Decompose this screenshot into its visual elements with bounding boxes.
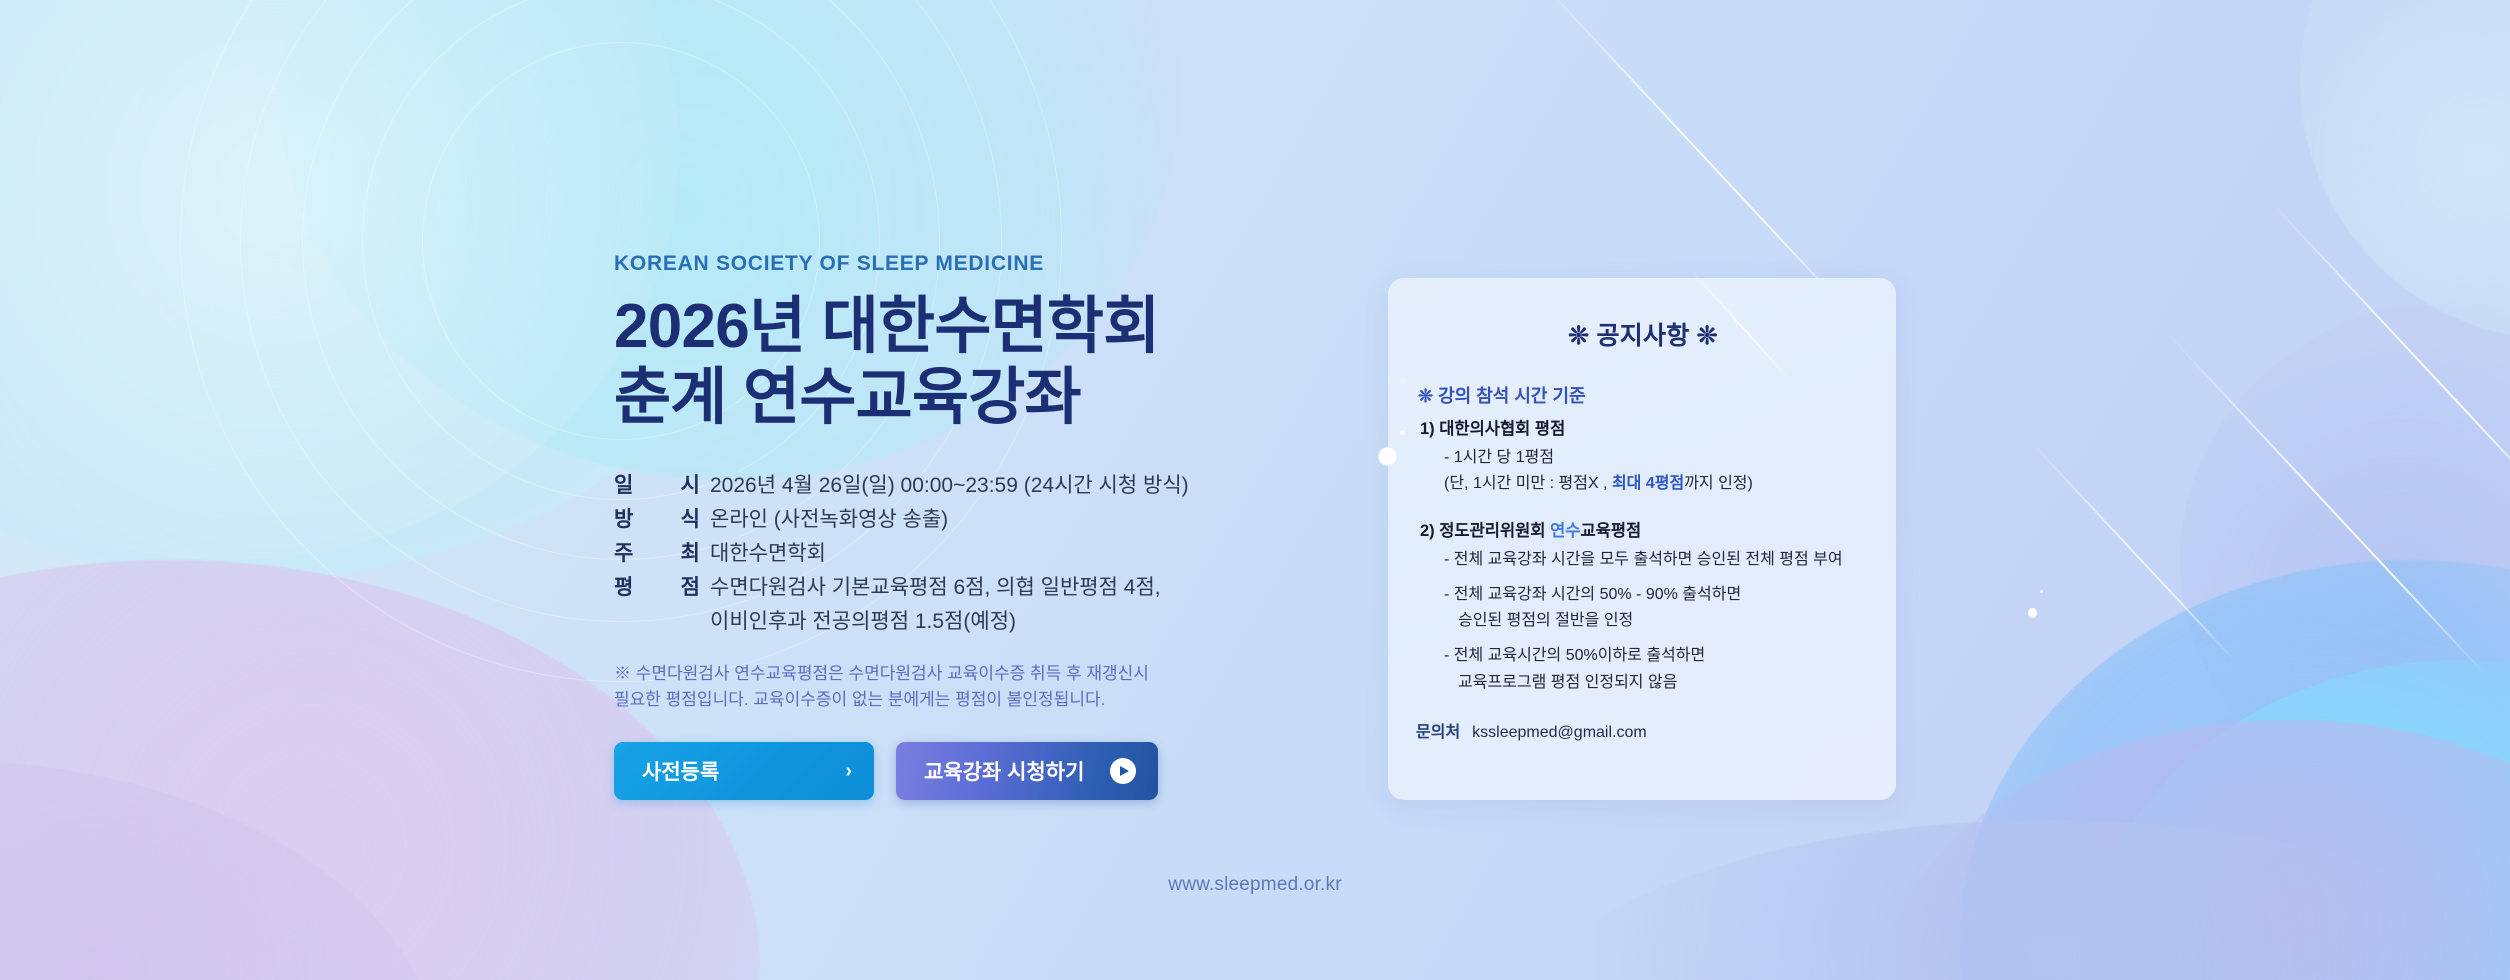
detail-value-host: 대한수면학회 bbox=[710, 537, 1314, 571]
credits-footnote-line-2: 필요한 평점입니다. 교육이수증이 없는 분에게는 평점이 불인정됩니다. bbox=[614, 687, 1314, 712]
website-url[interactable]: www.sleepmed.or.kr bbox=[0, 874, 2510, 896]
cta-button-group: 사전등록 › 교육강좌 시청하기 bbox=[614, 742, 1314, 800]
play-circle-icon bbox=[1110, 758, 1136, 784]
promo-banner: KOREAN SOCIETY OF SLEEP MEDICINE 2026년 대… bbox=[0, 0, 2510, 980]
notice-title: ❊ 공지사항 ❊ bbox=[1410, 316, 1876, 352]
detail-row-date: 일 시 2026년 4월 26일(일) 00:00~23:59 (24시간 시청… bbox=[614, 469, 1314, 503]
notice-item-2-heading-post: 교육평점 bbox=[1580, 522, 1641, 540]
notice-item-1-line-2-post: 까지 인정) bbox=[1684, 475, 1753, 492]
notice-item-2-line-2a: - 전체 교육강좌 시간의 50% - 90% 출석하면 bbox=[1444, 583, 1876, 608]
notice-item-2-line-3a: - 전체 교육시간의 50%이하로 출석하면 bbox=[1444, 644, 1876, 669]
light-streak-4 bbox=[2029, 440, 2235, 661]
light-streak-1 bbox=[1539, 0, 1854, 318]
notice-item-1: 1) 대한의사협회 평점 - 1시간 당 1평점 (단, 1시간 미만 : 평점… bbox=[1410, 417, 1876, 497]
notice-item-2-line-1: - 전체 교육강좌 시간을 모두 출석하면 승인된 전체 평점 부여 bbox=[1444, 548, 1876, 573]
notice-item-2-heading: 2) 정도관리위원회 연수교육평점 bbox=[1420, 519, 1876, 545]
notice-subtitle: ❊ 강의 참석 시간 기준 bbox=[1418, 382, 1876, 408]
credits-footnote-line-1: ※ 수면다원검사 연수교육평점은 수면다원검사 교육이수증 취득 후 재갱신시 bbox=[614, 661, 1314, 686]
detail-value-credits-continued: 이비인후과 전공의평점 1.5점(예정) bbox=[710, 605, 1314, 639]
light-streak-2 bbox=[2164, 330, 2486, 675]
blob-lavender-right bbox=[2180, 300, 2510, 820]
pre-registration-button[interactable]: 사전등록 › bbox=[614, 742, 874, 800]
detail-label-format: 방 식 bbox=[614, 503, 710, 537]
society-name: KOREAN SOCIETY OF SLEEP MEDICINE bbox=[614, 252, 1314, 276]
notice-item-1-heading: 1) 대한의사협회 평점 bbox=[1420, 417, 1876, 443]
notice-item-2-line-2b: 승인된 평점의 절반을 인정 bbox=[1458, 609, 1876, 634]
star-dot-2 bbox=[2040, 590, 2043, 593]
credits-footnote: ※ 수면다원검사 연수교육평점은 수면다원검사 교육이수증 취득 후 재갱신시 … bbox=[614, 661, 1314, 711]
blob-lavender-bottom-right bbox=[1880, 720, 2510, 980]
blob-lavender-bottom-left-2 bbox=[0, 760, 440, 980]
page-title-line-2: 춘계 연수교육강좌 bbox=[614, 363, 1314, 434]
hero-content: KOREAN SOCIETY OF SLEEP MEDICINE 2026년 대… bbox=[614, 252, 1314, 800]
blob-blue-right bbox=[1960, 560, 2510, 980]
detail-value-format: 온라인 (사전녹화영상 송출) bbox=[710, 503, 1314, 537]
notice-item-1-line-1: - 1시간 당 1평점 bbox=[1444, 446, 1876, 471]
notice-item-2-line-3b: 교육프로그램 평점 인정되지 않음 bbox=[1458, 671, 1876, 696]
page-title: 2026년 대한수면학회 춘계 연수교육강좌 bbox=[614, 292, 1314, 433]
detail-label-date: 일 시 bbox=[614, 469, 710, 503]
star-dot-1 bbox=[2028, 608, 2037, 618]
notice-item-1-line-2-pre: (단, 1시간 미만 : 평점X , bbox=[1444, 475, 1612, 492]
detail-row-host: 주 최 대한수면학회 bbox=[614, 537, 1314, 571]
notice-card: ❊ 공지사항 ❊ ❊ 강의 참석 시간 기준 1) 대한의사협회 평점 - 1시… bbox=[1388, 278, 1896, 800]
detail-row-credits: 평 점 수면다원검사 기본교육평점 6점, 의협 일반평점 4점, bbox=[614, 571, 1314, 605]
blob-cyan-top-right bbox=[2300, 0, 2510, 340]
notice-item-2: 2) 정도관리위원회 연수교육평점 - 전체 교육강좌 시간을 모두 출석하면 … bbox=[1410, 519, 1876, 696]
detail-value-date: 2026년 4월 26일(일) 00:00~23:59 (24시간 시청 방식) bbox=[710, 469, 1314, 503]
light-streak-3 bbox=[2269, 200, 2510, 509]
notice-item-1-max-credit: 최대 4평점 bbox=[1612, 475, 1684, 492]
contact-email[interactable]: kssleepmed@gmail.com bbox=[1472, 724, 1647, 741]
detail-row-format: 방 식 온라인 (사전녹화영상 송출) bbox=[614, 503, 1314, 537]
watch-lecture-button-label: 교육강좌 시청하기 bbox=[924, 756, 1084, 786]
pre-registration-button-label: 사전등록 bbox=[642, 756, 719, 786]
detail-label-credits: 평 점 bbox=[614, 571, 710, 605]
notice-item-2-heading-pre: 2) 정도관리위원회 bbox=[1420, 522, 1550, 540]
event-details: 일 시 2026년 4월 26일(일) 00:00~23:59 (24시간 시청… bbox=[614, 469, 1314, 639]
detail-value-credits: 수면다원검사 기본교육평점 6점, 의협 일반평점 4점, bbox=[710, 571, 1314, 605]
blob-white-top-left bbox=[0, 0, 680, 560]
page-title-line-1: 2026년 대한수면학회 bbox=[614, 292, 1314, 363]
chevron-right-icon: › bbox=[845, 761, 852, 781]
notice-item-2-heading-highlight: 연수 bbox=[1550, 522, 1580, 540]
watch-lecture-button[interactable]: 교육강좌 시청하기 bbox=[896, 742, 1158, 800]
blob-blue-bottom-middle bbox=[1500, 820, 2510, 980]
notice-item-1-line-2: (단, 1시간 미만 : 평점X , 최대 4평점까지 인정) bbox=[1444, 472, 1876, 497]
contact-label: 문의처 bbox=[1416, 724, 1460, 741]
contact-row: 문의처kssleepmed@gmail.com bbox=[1416, 718, 1876, 742]
detail-label-host: 주 최 bbox=[614, 537, 710, 571]
blob-cyan-right bbox=[2080, 660, 2510, 980]
